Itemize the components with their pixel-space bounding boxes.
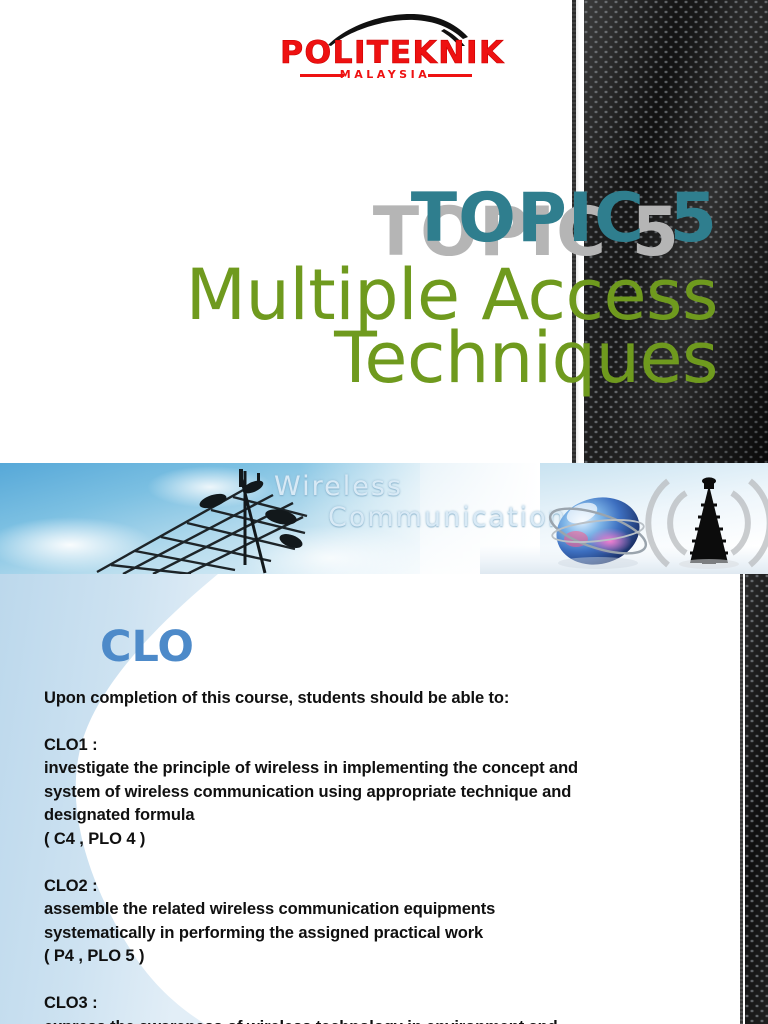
topic-title: TOPIC 5 [411,185,718,253]
logo-wordmark: POLITEKNIK [280,38,490,69]
logo-rule-right [428,74,472,77]
clo3-line-1: express the awareness of wireless techno… [44,1016,704,1024]
wireless-communication-banner: Wireless Communication [0,463,768,574]
subtitle-line-2: Techniques [0,324,740,393]
clo1-line-1: investigate the principle of wireless in… [44,757,704,781]
radio-tower-icon [640,471,768,574]
clo-intro: Upon completion of this course, students… [44,687,704,711]
title-block: TOPIC 5 TOPIC 5 Multiple Access Techniqu… [0,185,740,392]
clo2-code: ( P4 , PLO 5 ) [44,945,704,969]
clo1-label: CLO1 : [44,734,704,758]
clo3-label: CLO3 : [44,992,704,1016]
spacer [44,969,704,992]
clo-section: CLO Upon completion of this course, stud… [0,574,768,1024]
politeknik-malaysia-logo: POLITEKNIK MALAYSIA [282,12,488,82]
banner-title-line-2: Communication [328,502,567,533]
clo1-line-3: designated formula [44,804,704,828]
spacer [44,852,704,875]
clo2-line-1: assemble the related wireless communicat… [44,898,704,922]
carbon-edge-stripe-bottom [740,574,743,1024]
title-section: POLITEKNIK MALAYSIA TOPIC 5 TOPIC 5 Mult… [0,0,768,471]
clo2-line-2: systematically in performing the assigne… [44,922,704,946]
clo-body: Upon completion of this course, students… [44,687,704,1024]
clo-heading: CLO [100,626,194,669]
banner-title-line-1: Wireless [274,471,403,502]
clo1-line-2: system of wireless communication using a… [44,781,704,805]
clo2-label: CLO2 : [44,875,704,899]
carbon-fiber-panel-bottom [745,574,768,1024]
clo1-code: ( C4 , PLO 4 ) [44,828,704,852]
network-orb-image [548,483,653,571]
slide-root: POLITEKNIK MALAYSIA TOPIC 5 TOPIC 5 Mult… [0,0,768,1024]
spacer [44,711,704,734]
